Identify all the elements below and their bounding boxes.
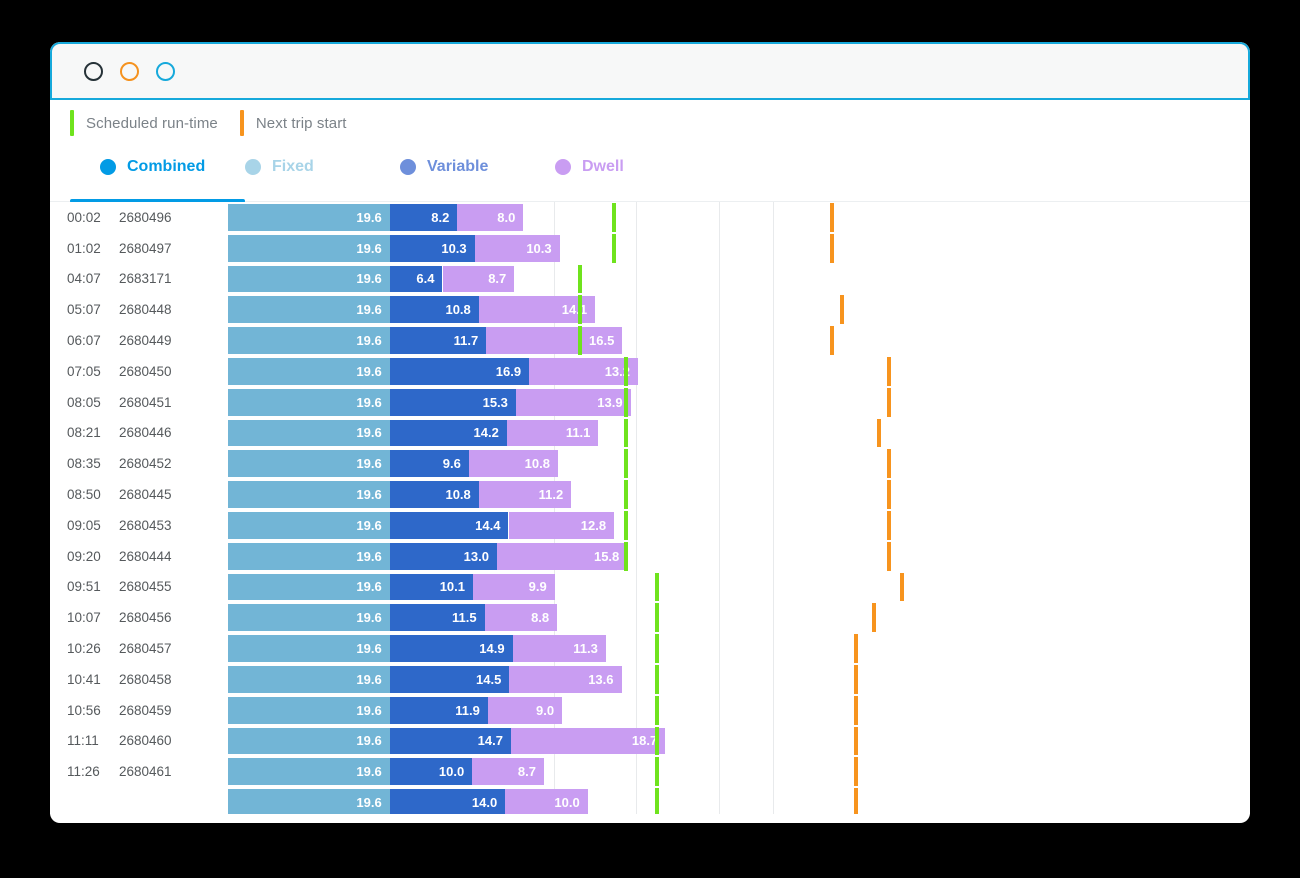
row-label: 06:072680449 xyxy=(50,325,178,356)
bar-segment-dwell[interactable]: 13.6 xyxy=(509,666,621,693)
row-label: 07:052680450 xyxy=(50,356,178,387)
combined-dot-icon xyxy=(100,159,116,175)
next-trip-start-tick xyxy=(887,388,891,417)
next-trip-start-tick xyxy=(854,727,858,756)
tab-fixed[interactable]: Fixed xyxy=(245,146,400,201)
row-time: 04:07 xyxy=(67,271,109,286)
row-time: 08:21 xyxy=(67,425,109,440)
tab-label: Variable xyxy=(427,158,488,176)
scheduled-run-time-tick xyxy=(655,634,659,663)
bar-segment-fixed[interactable]: 19.6 xyxy=(228,450,390,477)
bar-segment-variable[interactable]: 10.3 xyxy=(390,235,475,262)
row-time: 10:56 xyxy=(67,703,109,718)
next-trip-start-tick xyxy=(830,203,834,232)
tab-label: Dwell xyxy=(582,158,624,176)
next-trip-start-tick xyxy=(854,696,858,725)
scheduled-run-time-tick xyxy=(624,542,628,571)
row-bars: 19.614.412.8 xyxy=(228,512,1250,539)
row-bars: 19.610.19.9 xyxy=(228,574,1250,601)
row-bars: 19.613.015.8 xyxy=(228,543,1250,570)
chart-row[interactable]: 01:02268049719.610.310.3 xyxy=(50,233,1250,264)
close-dot-icon[interactable] xyxy=(84,62,103,81)
window-titlebar xyxy=(50,42,1250,100)
chart-row[interactable]: 10:07268045619.611.58.8 xyxy=(50,602,1250,633)
row-label: 04:072683171 xyxy=(50,264,178,295)
next-trip-start-tick xyxy=(854,665,858,694)
scheduled-run-time-tick xyxy=(578,265,582,294)
next-trip-start-tick xyxy=(840,295,844,324)
row-trip-id: 2680456 xyxy=(119,610,176,625)
row-trip-id: 2680457 xyxy=(119,641,176,656)
row-bars: 19.616.913.2 xyxy=(228,358,1250,385)
row-label: 08:352680452 xyxy=(50,448,178,479)
legend-item-scheduled-run-time: Scheduled run-time xyxy=(70,110,240,136)
chart-row[interactable]: 05:07268044819.610.814.1 xyxy=(50,294,1250,325)
bar-segment-variable[interactable]: 10.0 xyxy=(390,758,473,785)
row-trip-id: 2680497 xyxy=(119,241,176,256)
chart-row[interactable]: 10:56268045919.611.99.0 xyxy=(50,695,1250,726)
row-trip-id: 2680458 xyxy=(119,672,176,687)
bar-segment-dwell[interactable]: 10.0 xyxy=(505,789,588,814)
bar-segment-fixed[interactable]: 19.6 xyxy=(228,204,390,231)
row-bars: 19.614.010.0 xyxy=(228,789,1250,814)
bar-segment-fixed[interactable]: 19.6 xyxy=(228,358,390,385)
next-trip-start-tick xyxy=(854,757,858,786)
scheduled-run-time-tick xyxy=(655,603,659,632)
row-trip-id: 2680450 xyxy=(119,364,176,379)
row-bars: 19.610.811.2 xyxy=(228,481,1250,508)
scheduled-run-time-tick xyxy=(655,757,659,786)
row-bars: 19.614.718.7 xyxy=(228,728,1250,755)
dwell-dot-icon xyxy=(555,159,571,175)
tab-dwell[interactable]: Dwell xyxy=(555,146,710,201)
bar-segment-variable[interactable]: 14.7 xyxy=(390,728,511,755)
next-trip-start-tick xyxy=(887,480,891,509)
bar-segment-variable[interactable]: 6.4 xyxy=(390,266,443,293)
bar-segment-dwell[interactable]: 13.9 xyxy=(516,389,631,416)
row-label: 08:502680445 xyxy=(50,479,178,510)
row-label: 10:562680459 xyxy=(50,695,178,726)
row-bars: 19.610.310.3 xyxy=(228,235,1250,262)
chart-row[interactable]: 19.614.010.0 xyxy=(50,787,1250,814)
row-time: 06:07 xyxy=(67,333,109,348)
row-bars: 19.614.513.6 xyxy=(228,666,1250,693)
chart-row[interactable]: 06:07268044919.611.716.5 xyxy=(50,325,1250,356)
row-time: 00:02 xyxy=(67,210,109,225)
row-label: 00:022680496 xyxy=(50,202,178,233)
bar-segment-variable[interactable]: 15.3 xyxy=(390,389,516,416)
next-trip-start-tick xyxy=(887,449,891,478)
chart-row[interactable]: 00:02268049619.68.28.0 xyxy=(50,202,1250,233)
scheduled-run-time-tick xyxy=(655,696,659,725)
row-bars: 19.611.58.8 xyxy=(228,604,1250,631)
row-time: 07:05 xyxy=(67,364,109,379)
chart-row[interactable]: 08:05268045119.615.313.9 xyxy=(50,387,1250,418)
fixed-dot-icon xyxy=(245,159,261,175)
bar-segment-fixed[interactable]: 19.6 xyxy=(228,728,390,755)
variable-dot-icon xyxy=(400,159,416,175)
next-trip-start-tick xyxy=(854,788,858,814)
bar-segment-dwell[interactable]: 10.8 xyxy=(469,450,558,477)
row-label: 11:112680460 xyxy=(50,726,178,757)
bar-segment-fixed[interactable]: 19.6 xyxy=(228,235,390,262)
scheduled-run-time-tick xyxy=(624,388,628,417)
scheduled-run-time-tick xyxy=(624,449,628,478)
bar-segment-dwell[interactable]: 11.1 xyxy=(507,420,599,447)
row-label: 09:052680453 xyxy=(50,510,178,541)
row-trip-id: 2680444 xyxy=(119,549,176,564)
scheduled-run-time-tick xyxy=(578,326,582,355)
chart-row[interactable]: 04:07268317119.66.48.7 xyxy=(50,264,1250,295)
marker-legend: Scheduled run-time Next trip start xyxy=(50,100,1250,146)
chart-rows: 00:02268049619.68.28.001:02268049719.610… xyxy=(50,202,1250,814)
bar-segment-dwell[interactable]: 16.5 xyxy=(486,327,622,354)
row-bars: 19.68.28.0 xyxy=(228,204,1250,231)
chart-card: Scheduled run-time Next trip start Combi… xyxy=(50,42,1250,823)
legend-label: Scheduled run-time xyxy=(86,115,218,132)
tab-combined[interactable]: Combined xyxy=(70,146,245,201)
scheduled-run-time-tick xyxy=(655,727,659,756)
row-trip-id: 2680459 xyxy=(119,703,176,718)
row-trip-id: 2680445 xyxy=(119,487,176,502)
row-label: 10:262680457 xyxy=(50,633,178,664)
chart-row[interactable]: 08:21268044619.614.211.1 xyxy=(50,418,1250,449)
scheduled-run-time-tick xyxy=(655,573,659,602)
next-trip-start-tick xyxy=(830,326,834,355)
row-time: 09:20 xyxy=(67,549,109,564)
bar-segment-dwell[interactable]: 12.8 xyxy=(509,512,615,539)
maximize-dot-icon[interactable] xyxy=(156,62,175,81)
next-trip-start-tick xyxy=(877,419,881,448)
chart-row[interactable]: 08:35268045219.69.610.8 xyxy=(50,448,1250,479)
row-trip-id: 2680446 xyxy=(119,425,176,440)
bar-segment-variable[interactable]: 14.4 xyxy=(390,512,509,539)
bar-segment-dwell[interactable]: 13.2 xyxy=(529,358,638,385)
row-bars: 19.611.99.0 xyxy=(228,697,1250,724)
row-label: 08:212680446 xyxy=(50,418,178,449)
row-label: 09:202680444 xyxy=(50,541,178,572)
bar-segment-dwell[interactable]: 10.3 xyxy=(475,235,560,262)
bar-segment-fixed[interactable]: 19.6 xyxy=(228,697,390,724)
bar-segment-variable[interactable]: 14.9 xyxy=(390,635,513,662)
tab-label: Fixed xyxy=(272,158,314,176)
row-bars: 19.69.610.8 xyxy=(228,450,1250,477)
bar-segment-dwell[interactable]: 8.8 xyxy=(485,604,558,631)
scheduled-run-time-tick xyxy=(655,665,659,694)
row-trip-id: 2683171 xyxy=(119,271,176,286)
screen-root: Scheduled run-time Next trip start Combi… xyxy=(0,0,1300,878)
row-time: 08:05 xyxy=(67,395,109,410)
plot-area: 00:02268049619.68.28.001:02268049719.610… xyxy=(50,202,1250,814)
bar-segment-variable[interactable]: 14.5 xyxy=(390,666,510,693)
bar-segment-variable[interactable]: 14.2 xyxy=(390,420,507,447)
row-time: 08:50 xyxy=(67,487,109,502)
bar-segment-dwell[interactable]: 8.7 xyxy=(443,266,515,293)
scheduled-run-time-tick xyxy=(578,295,582,324)
row-trip-id: 2680453 xyxy=(119,518,176,533)
stacked-bar-chart: 00:02268049619.68.28.001:02268049719.610… xyxy=(50,202,1250,814)
next-trip-start-tick xyxy=(872,603,876,632)
next-trip-start-tick xyxy=(887,511,891,540)
row-time: 01:02 xyxy=(67,241,109,256)
row-label: 09:512680455 xyxy=(50,572,178,603)
bar-segment-fixed[interactable]: 19.6 xyxy=(228,758,390,785)
row-trip-id: 2680451 xyxy=(119,395,176,410)
scheduled-run-time-tick xyxy=(612,203,616,232)
next-trip-start-tick xyxy=(900,573,904,602)
scheduled-run-time-tick xyxy=(612,234,616,263)
bar-segment-variable[interactable]: 10.8 xyxy=(390,481,479,508)
legend-label: Next trip start xyxy=(256,115,347,132)
row-label xyxy=(50,787,178,814)
chart-row[interactable]: 10:26268045719.614.911.3 xyxy=(50,633,1250,664)
tab-label: Combined xyxy=(127,158,205,176)
bar-segment-variable[interactable]: 11.7 xyxy=(390,327,487,354)
bar-segment-variable[interactable]: 8.2 xyxy=(390,204,458,231)
row-time: 09:51 xyxy=(67,579,109,594)
row-label: 11:262680461 xyxy=(50,756,178,787)
row-time: 10:26 xyxy=(67,641,109,656)
row-bars: 19.610.814.1 xyxy=(228,296,1250,323)
row-trip-id: 2680452 xyxy=(119,456,176,471)
tab-variable[interactable]: Variable xyxy=(400,146,555,201)
chart-row[interactable]: 11:11268046019.614.718.7 xyxy=(50,726,1250,757)
bar-segment-fixed[interactable]: 19.6 xyxy=(228,481,390,508)
row-time: 11:11 xyxy=(67,733,109,748)
bar-segment-dwell[interactable]: 15.8 xyxy=(497,543,627,570)
row-label: 05:072680448 xyxy=(50,294,178,325)
bar-segment-variable[interactable]: 10.8 xyxy=(390,296,479,323)
scheduled-run-time-tick xyxy=(624,419,628,448)
chart-row[interactable]: 09:20268044419.613.015.8 xyxy=(50,541,1250,572)
bar-segment-variable[interactable]: 11.9 xyxy=(390,697,488,724)
bar-segment-fixed[interactable]: 19.6 xyxy=(228,512,390,539)
scheduled-run-time-tick xyxy=(655,788,659,814)
row-bars: 19.611.716.5 xyxy=(228,327,1250,354)
row-label: 01:022680497 xyxy=(50,233,178,264)
row-trip-id: 2680461 xyxy=(119,764,176,779)
bar-segment-fixed[interactable]: 19.6 xyxy=(228,389,390,416)
row-bars: 19.615.313.9 xyxy=(228,389,1250,416)
chart-row[interactable]: 09:51268045519.610.19.9 xyxy=(50,572,1250,603)
row-trip-id: 2680449 xyxy=(119,333,176,348)
chart-row[interactable]: 10:41268045819.614.513.6 xyxy=(50,664,1250,695)
series-tabs: Combined Fixed Variable Dwell xyxy=(50,146,1250,202)
row-time: 10:41 xyxy=(67,672,109,687)
row-time: 09:05 xyxy=(67,518,109,533)
bar-segment-dwell[interactable]: 9.9 xyxy=(473,574,555,601)
next-trip-start-tick xyxy=(887,542,891,571)
row-trip-id: 2680455 xyxy=(119,579,176,594)
bar-segment-fixed[interactable]: 19.6 xyxy=(228,543,390,570)
row-trip-id: 2680448 xyxy=(119,302,176,317)
bar-segment-fixed[interactable]: 19.6 xyxy=(228,789,390,814)
bar-segment-variable[interactable]: 9.6 xyxy=(390,450,469,477)
next-trip-start-tick xyxy=(854,634,858,663)
next-trip-start-marker-icon xyxy=(240,110,244,136)
next-trip-start-tick xyxy=(887,357,891,386)
scheduled-run-time-marker-icon xyxy=(70,110,74,136)
bar-segment-dwell[interactable]: 8.0 xyxy=(457,204,523,231)
minimize-dot-icon[interactable] xyxy=(120,62,139,81)
bar-segment-variable[interactable]: 16.9 xyxy=(390,358,529,385)
row-trip-id: 2680496 xyxy=(119,210,176,225)
row-label: 08:052680451 xyxy=(50,387,178,418)
bar-segment-dwell[interactable]: 9.0 xyxy=(488,697,562,724)
bar-segment-fixed[interactable]: 19.6 xyxy=(228,420,390,447)
bar-segment-fixed[interactable]: 19.6 xyxy=(228,296,390,323)
bar-segment-fixed[interactable]: 19.6 xyxy=(228,635,390,662)
row-bars: 19.614.911.3 xyxy=(228,635,1250,662)
bar-segment-fixed[interactable]: 19.6 xyxy=(228,266,390,293)
row-bars: 19.614.211.1 xyxy=(228,420,1250,447)
row-time: 05:07 xyxy=(67,302,109,317)
scheduled-run-time-tick xyxy=(624,357,628,386)
chart-row[interactable]: 08:50268044519.610.811.2 xyxy=(50,479,1250,510)
row-trip-id: 2680460 xyxy=(119,733,176,748)
row-bars: 19.610.08.7 xyxy=(228,758,1250,785)
scheduled-run-time-tick xyxy=(624,480,628,509)
row-time: 11:26 xyxy=(67,764,109,779)
row-label: 10:072680456 xyxy=(50,602,178,633)
row-time: 08:35 xyxy=(67,456,109,471)
bar-segment-fixed[interactable]: 19.6 xyxy=(228,604,390,631)
bar-segment-variable[interactable]: 11.5 xyxy=(390,604,485,631)
chart-row[interactable]: 07:05268045019.616.913.2 xyxy=(50,356,1250,387)
chart-row[interactable]: 11:26268046119.610.08.7 xyxy=(50,756,1250,787)
chart-row[interactable]: 09:05268045319.614.412.8 xyxy=(50,510,1250,541)
legend-item-next-trip-start: Next trip start xyxy=(240,110,369,136)
bar-segment-dwell[interactable]: 18.7 xyxy=(511,728,665,755)
row-time: 10:07 xyxy=(67,610,109,625)
bar-segment-fixed[interactable]: 19.6 xyxy=(228,666,390,693)
bar-segment-variable[interactable]: 14.0 xyxy=(390,789,506,814)
bar-segment-fixed[interactable]: 19.6 xyxy=(228,574,390,601)
bar-segment-fixed[interactable]: 19.6 xyxy=(228,327,390,354)
bar-segment-dwell[interactable]: 11.2 xyxy=(479,481,571,508)
row-label: 10:412680458 xyxy=(50,664,178,695)
bar-segment-dwell[interactable]: 8.7 xyxy=(472,758,544,785)
bar-segment-dwell[interactable]: 11.3 xyxy=(513,635,606,662)
bar-segment-variable[interactable]: 10.1 xyxy=(390,574,473,601)
bar-segment-variable[interactable]: 13.0 xyxy=(390,543,497,570)
scheduled-run-time-tick xyxy=(624,511,628,540)
next-trip-start-tick xyxy=(830,234,834,263)
row-bars: 19.66.48.7 xyxy=(228,266,1250,293)
